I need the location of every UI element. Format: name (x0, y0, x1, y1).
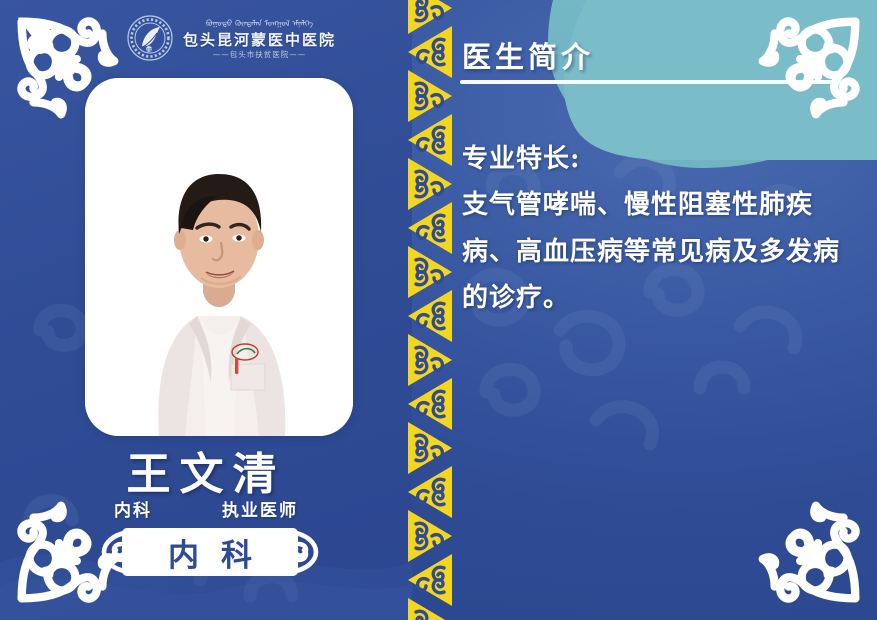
specialty-label: 专业特长: (462, 136, 860, 182)
department-badge: 内科 (100, 528, 320, 576)
doctor-department: 内科 (114, 496, 152, 521)
hospital-logo-block: 中蒙 ᠪᠤᠭᠤᠲᠤ ᠬᠦᠨᠳᠡᠯᠡᠨ ᠮᠣᠩᠭᠣᠯ ᠡᠮᠨᠡᠯᠭᠡ 包头昆河蒙医… (126, 14, 336, 62)
hospital-subtitle: ——包头市扶贫医院—— (213, 51, 307, 59)
department-badge-text: 内科 (122, 528, 298, 576)
profile-body: 专业特长: 支气管哮喘、慢性阻塞性肺疾病、高血压病等常见病及多发病的诊疗。 (462, 136, 860, 321)
specialty-text: 支气管哮喘、慢性阻塞性肺疾病、高血压病等常见病及多发病的诊疗。 (462, 182, 860, 321)
hospital-name: 包头昆河蒙医中医院 (183, 33, 336, 48)
doctor-name: 王文清 (0, 438, 412, 502)
profile-heading: 医生简介 (462, 34, 594, 76)
doctor-title: 执业医师 (222, 496, 298, 521)
svg-text:中蒙: 中蒙 (146, 47, 152, 52)
doctor-profile-poster: 中蒙 ᠪᠤᠭᠤᠲᠤ ᠬᠦᠨᠳᠡᠯᠡᠨ ᠮᠣᠩᠭᠣᠯ ᠡᠮᠨᠡᠯᠭᠡ 包头昆河蒙医… (0, 0, 877, 620)
hospital-emblem-icon: 中蒙 (126, 14, 174, 62)
corner-ornament-top-right-icon (755, 4, 873, 122)
doctor-meta: 内科 执业医师 (0, 496, 412, 521)
corner-ornament-bottom-right-icon (755, 498, 873, 616)
hospital-mongolian-script: ᠪᠤᠭᠤᠲᠤ ᠬᠦᠨᠳᠡᠯᠡᠨ ᠮᠣᠩᠭᠣᠯ ᠡᠮᠨᠡᠯᠭᠡ (206, 18, 313, 31)
center-divider-ornament (404, 0, 456, 620)
doctor-portrait (85, 78, 353, 436)
profile-heading-rule (460, 80, 840, 84)
doctor-photo-card (85, 78, 353, 436)
